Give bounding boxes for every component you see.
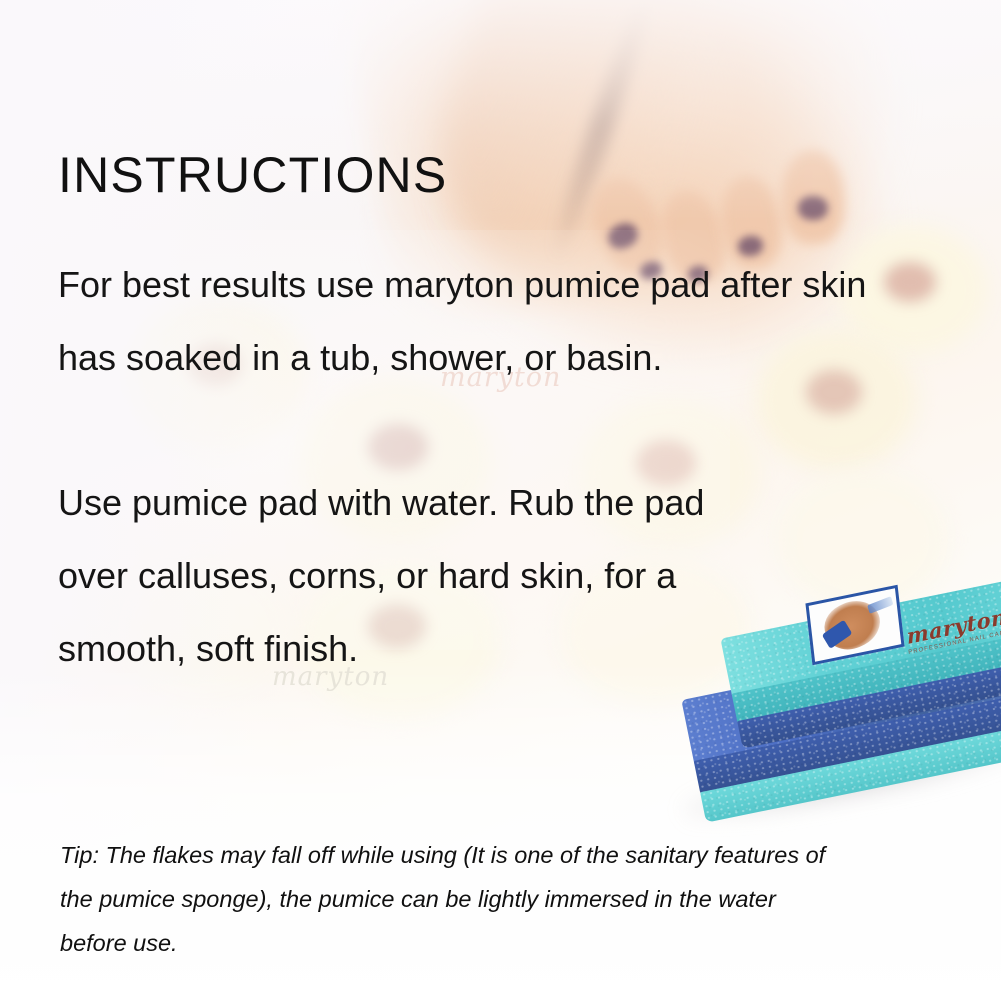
product-instruction-card: maryton maryton maryton [0,0,1001,1001]
tip-line: before use. [60,921,950,965]
instruction-line: For best results use maryton pumice pad … [58,248,866,321]
instruction-line: over calluses, corns, or hard skin, for … [58,539,704,612]
page-title: INSTRUCTIONS [58,146,447,204]
instruction-paragraph-2: Use pumice pad with water. Rub the pad o… [58,466,704,685]
instruction-line: has soaked in a tub, shower, or basin. [58,321,866,394]
tip-line: the pumice sponge), the pumice can be li… [60,877,950,921]
instruction-paragraph-1: For best results use maryton pumice pad … [58,248,866,394]
instruction-line: Use pumice pad with water. Rub the pad [58,466,704,539]
tip-line: Tip: The flakes may fall off while using… [60,833,950,877]
label-brand-mark-icon [867,596,893,614]
orchid-center [884,262,936,302]
tip-note: Tip: The flakes may fall off while using… [60,833,950,965]
instruction-line: smooth, soft finish. [58,612,704,685]
product-photo-pumice-sponges: maryton PROFESSIONAL NAIL CARE [700,588,1001,818]
